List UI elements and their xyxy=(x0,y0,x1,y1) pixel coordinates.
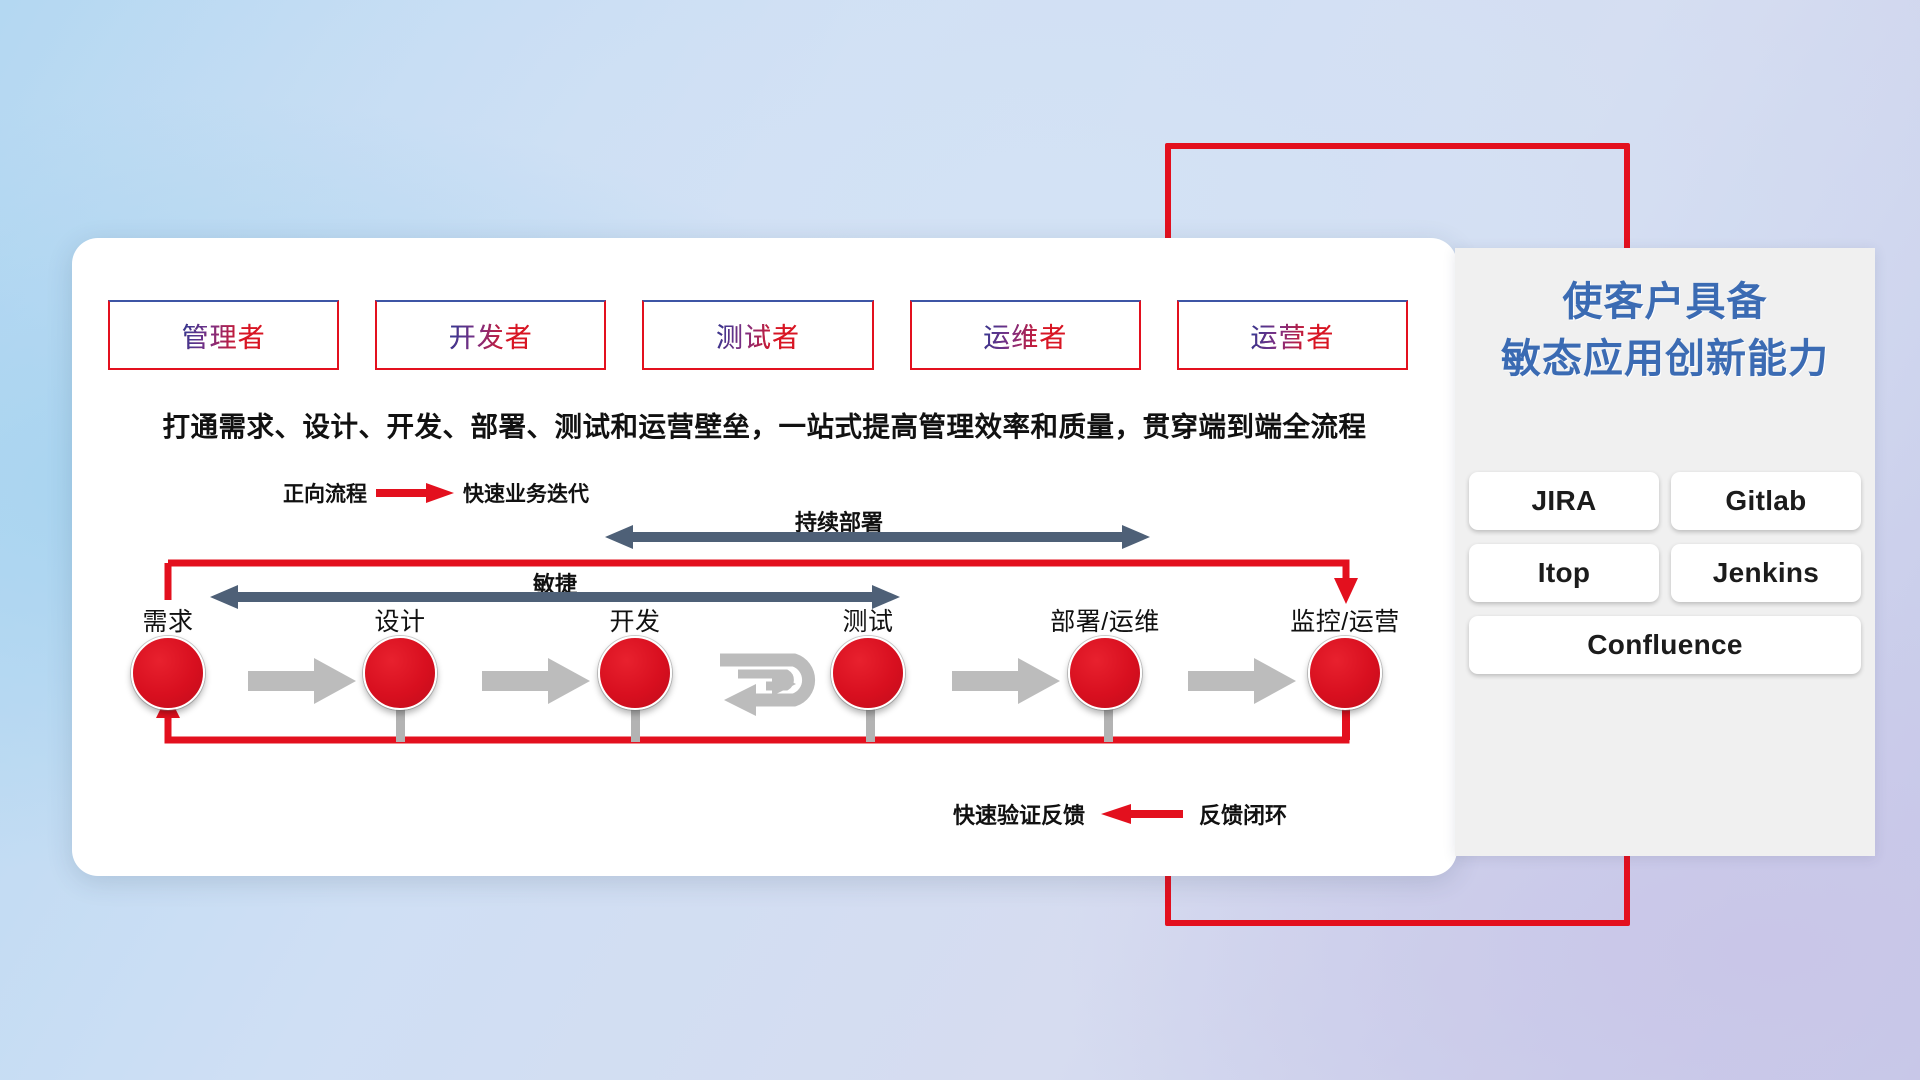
feedback-right-label: 反馈闭环 xyxy=(1199,798,1287,830)
pipeline-row: 需求 设计 开发 测试 xyxy=(100,612,1430,732)
role-box-developer[interactable]: 开发者 xyxy=(375,300,606,370)
role-box-tester[interactable]: 测试者 xyxy=(642,300,873,370)
panel-title-line2: 敏态应用创新能力 xyxy=(1455,331,1875,388)
agile-double-arrow-icon xyxy=(210,583,900,611)
feedback-left-label: 快速验证反馈 xyxy=(953,798,1085,830)
role-label: 管理者 xyxy=(182,316,266,355)
tool-chip-itop[interactable]: Itop xyxy=(1469,544,1659,602)
panel-title: 使客户具备 敏态应用创新能力 xyxy=(1455,274,1875,388)
red-left-arrow-icon xyxy=(1101,803,1183,825)
gray-uturn-loop-arrow-icon xyxy=(712,638,832,722)
pipeline-node-label: 监控/运营 xyxy=(1290,602,1399,638)
feedback-annotation: 快速验证反馈 反馈闭环 xyxy=(953,798,1287,830)
pipeline-node-label: 需求 xyxy=(142,602,193,638)
tool-chip-list: JIRA Gitlab Itop Jenkins Confluence xyxy=(1469,472,1861,674)
pipeline-node-requirements[interactable]: 需求 xyxy=(128,636,208,710)
forward-flow-annotation: 正向流程 快速业务迭代 xyxy=(283,478,589,508)
diagram-canvas: 管理者 开发者 测试者 运维者 运营者 打通需求、设计、开发、部署、测试和运营壁… xyxy=(0,0,1920,1080)
headline-text: 打通需求、设计、开发、部署、测试和运营壁垒，一站式提高管理效率和质量，贯穿端到端… xyxy=(72,404,1457,444)
pipeline-node-dot xyxy=(131,636,205,710)
pipeline-node-dot xyxy=(1308,636,1382,710)
role-box-operations[interactable]: 运营者 xyxy=(1177,300,1408,370)
value-proposition-panel: 使客户具备 敏态应用创新能力 JIRA Gitlab Itop Jenkins … xyxy=(1455,248,1875,856)
forward-flow-right-label: 快速业务迭代 xyxy=(463,478,589,508)
role-box-ops[interactable]: 运维者 xyxy=(910,300,1141,370)
pipeline-node-dot xyxy=(598,636,672,710)
role-box-manager[interactable]: 管理者 xyxy=(108,300,339,370)
role-label: 开发者 xyxy=(449,316,533,355)
gray-right-arrow-icon xyxy=(1188,658,1296,704)
role-label: 测试者 xyxy=(716,316,800,355)
tool-chip-jenkins[interactable]: Jenkins xyxy=(1671,544,1861,602)
pipeline-node-test[interactable]: 测试 xyxy=(828,636,908,710)
pipeline-node-label: 测试 xyxy=(842,602,893,638)
tool-chip-confluence[interactable]: Confluence xyxy=(1469,616,1861,674)
red-right-arrow-icon xyxy=(376,482,454,504)
tool-chip-jira[interactable]: JIRA xyxy=(1469,472,1659,530)
gray-right-arrow-icon xyxy=(482,658,590,704)
pipeline-node-dot xyxy=(831,636,905,710)
gray-right-arrow-icon xyxy=(248,658,356,704)
pipeline-node-label: 部署/运维 xyxy=(1050,602,1159,638)
tool-chip-gitlab[interactable]: Gitlab xyxy=(1671,472,1861,530)
pipeline-node-label: 开发 xyxy=(609,602,660,638)
pipeline-node-dot xyxy=(363,636,437,710)
panel-title-line1: 使客户具备 xyxy=(1455,274,1875,331)
pipeline-node-label: 设计 xyxy=(374,602,425,638)
role-label: 运营者 xyxy=(1250,316,1334,355)
forward-flow-left-label: 正向流程 xyxy=(283,478,367,508)
pipeline-node-deploy-ops[interactable]: 部署/运维 xyxy=(1065,636,1145,710)
pipeline-node-dot xyxy=(1068,636,1142,710)
pipeline-node-develop[interactable]: 开发 xyxy=(595,636,675,710)
gray-right-arrow-icon xyxy=(952,658,1060,704)
role-box-row: 管理者 开发者 测试者 运维者 运营者 xyxy=(108,300,1408,370)
continuous-deployment-double-arrow-icon xyxy=(605,523,1150,551)
role-label: 运维者 xyxy=(983,316,1067,355)
pipeline-node-monitor-operations[interactable]: 监控/运营 xyxy=(1305,636,1385,710)
pipeline-node-design[interactable]: 设计 xyxy=(360,636,440,710)
